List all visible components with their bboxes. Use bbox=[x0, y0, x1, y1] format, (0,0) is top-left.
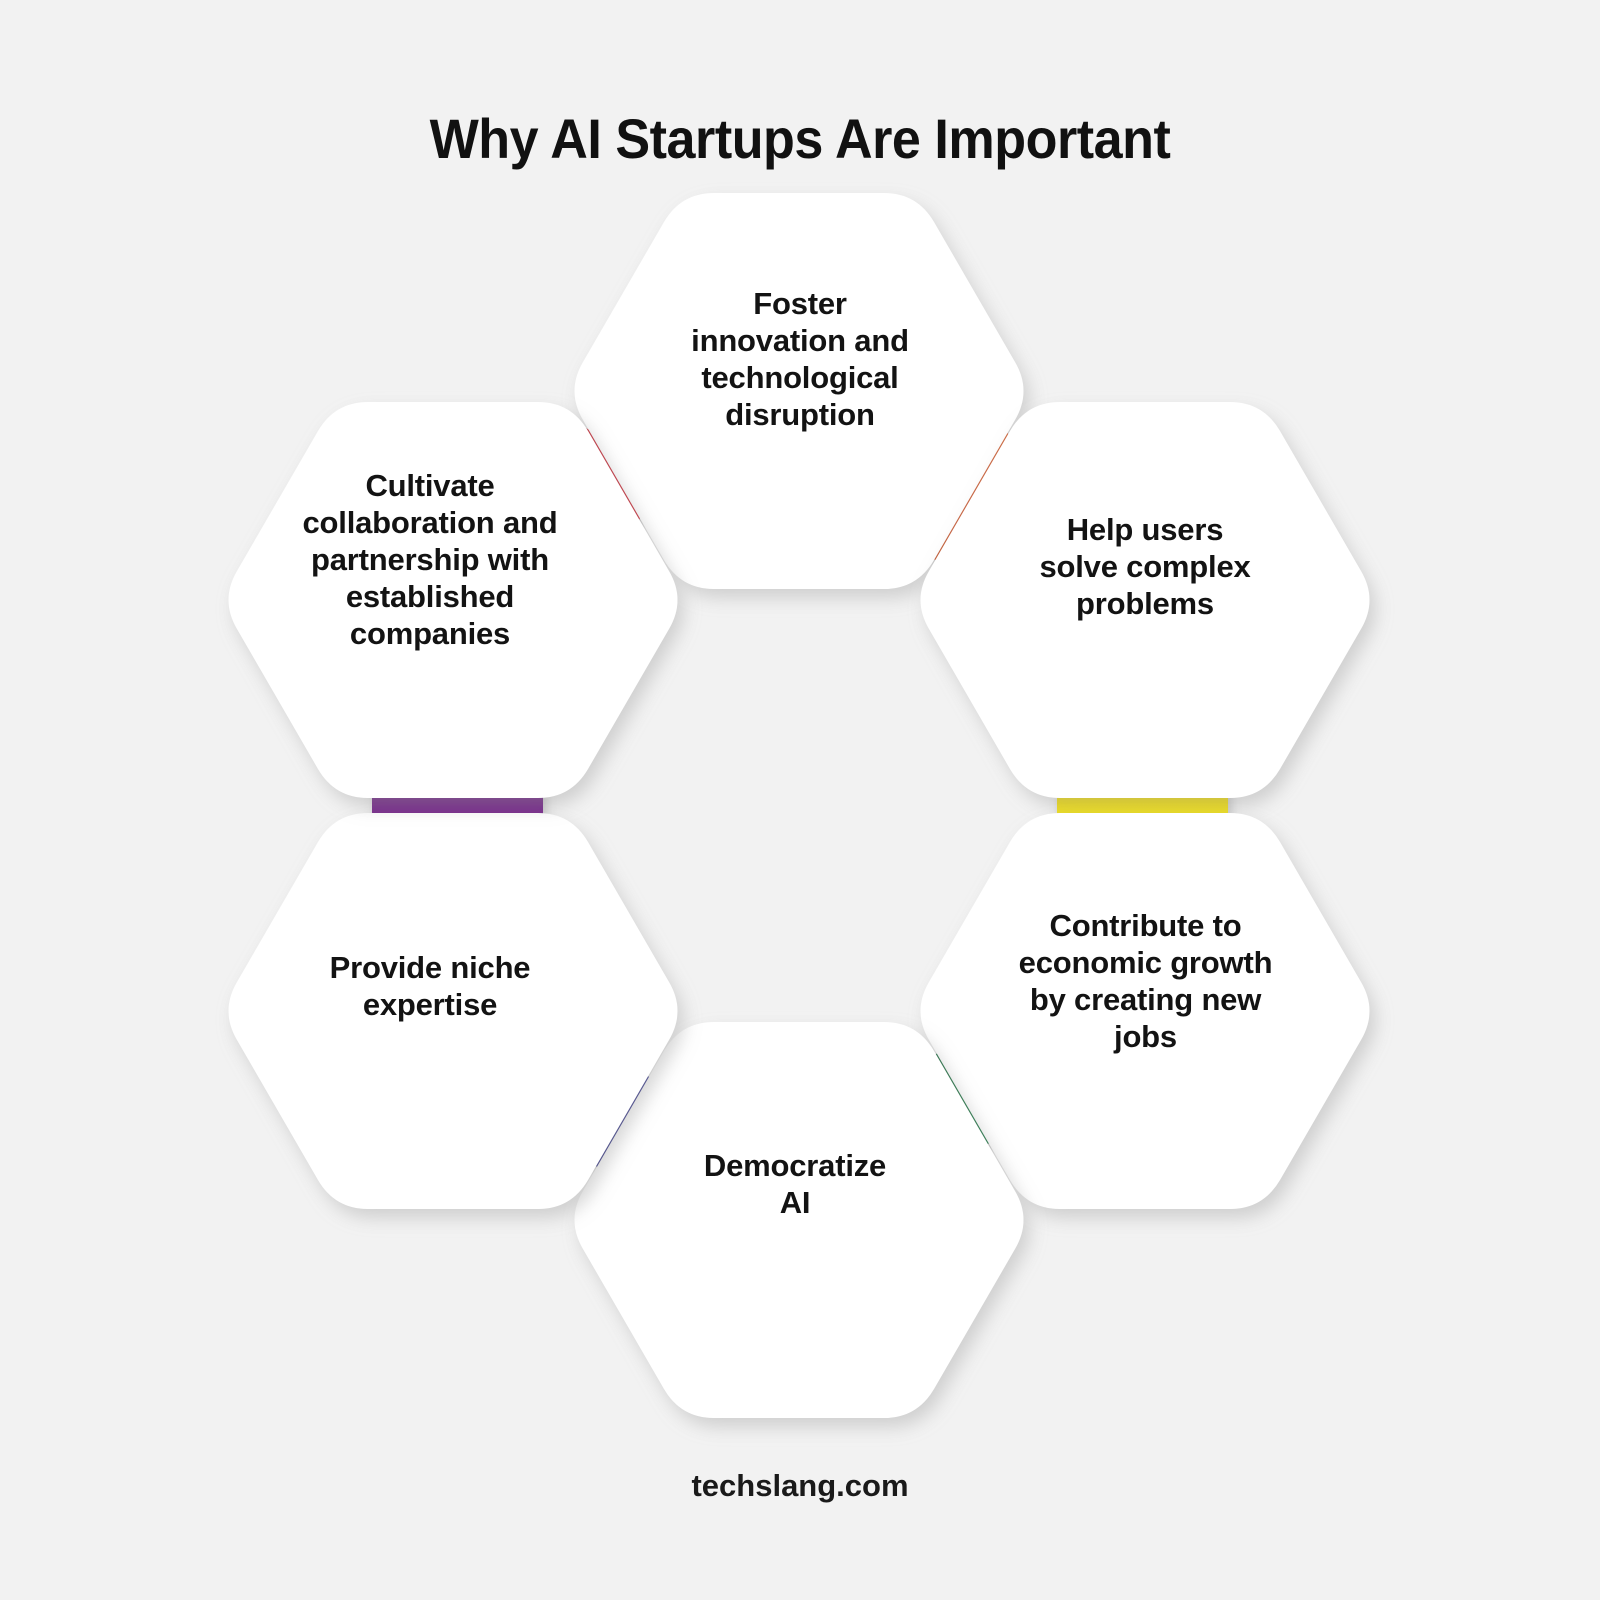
infographic-canvas: Why AI Startups Are Important bbox=[0, 0, 1600, 1600]
hexagon-cycle-diagram: Foster innovation and technological disr… bbox=[0, 0, 1600, 1600]
diagram-svg bbox=[0, 0, 1600, 1600]
footer-brand: techslang.com bbox=[0, 1468, 1600, 1504]
